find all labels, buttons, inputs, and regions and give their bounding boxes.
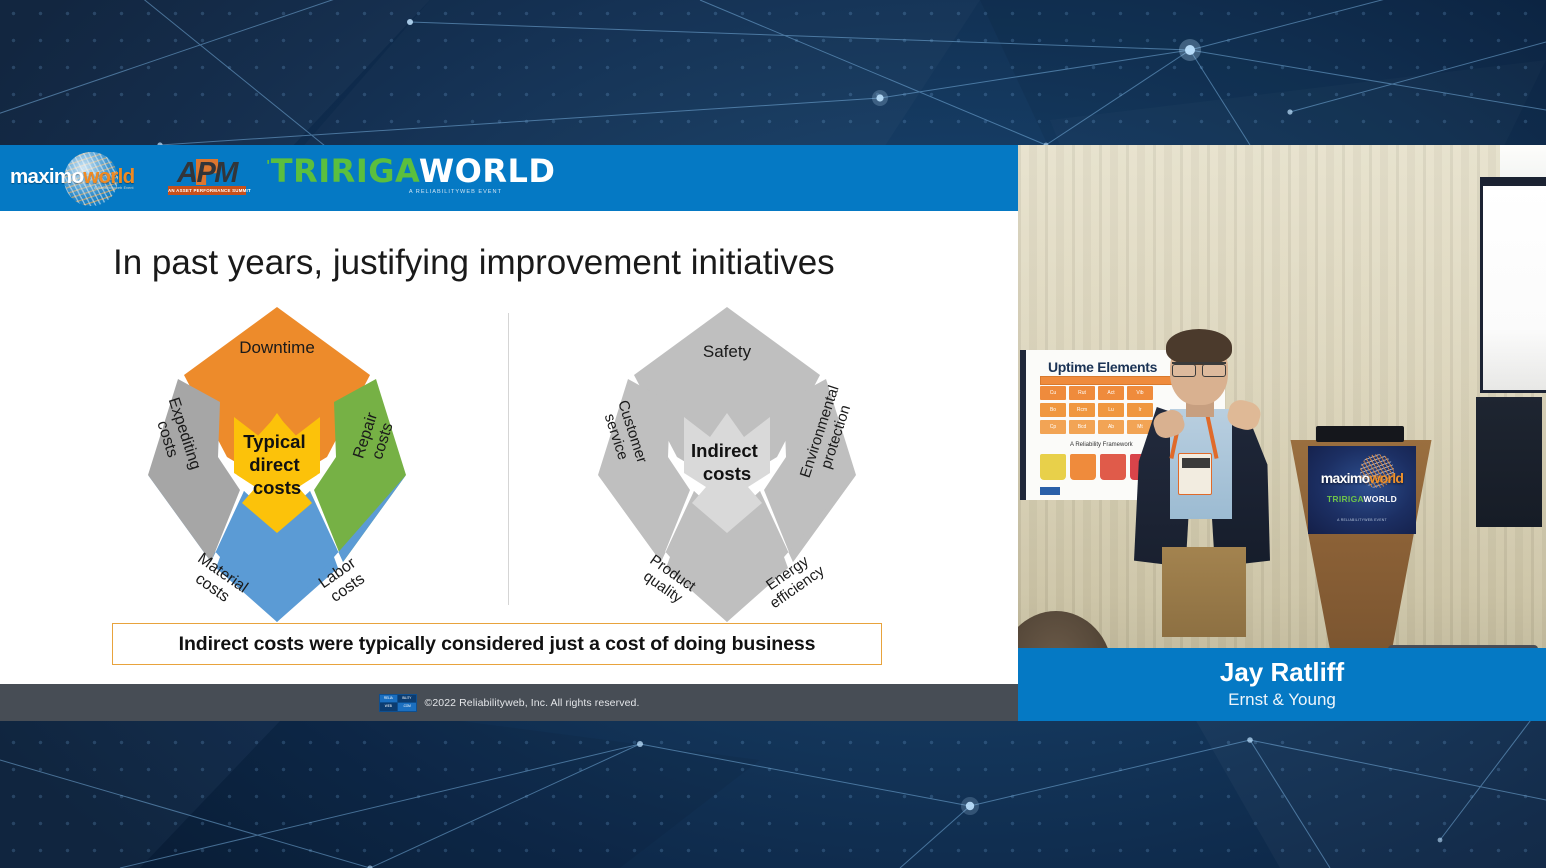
equipment-stand [1476, 397, 1542, 527]
indirect-costs-pentagon-chart: Safety Environmentalprotection Energyeff… [562, 305, 892, 625]
trousers [1162, 547, 1246, 637]
rw-logo-cell-3: WEB [380, 703, 398, 711]
slide-footer-bar: RELIA BILITY WEB .COM ©2022 Reliabilityw… [0, 684, 1018, 721]
speaker-figure [1118, 335, 1288, 635]
apm-logo: APM AN ASSET PERFORMANCE SUMMIT [166, 155, 248, 201]
maximoworld-logo: maximoworld A Reliabilityweb Event [10, 150, 144, 206]
pentagon-label-downtime: Downtime [239, 338, 315, 357]
podium: maximoworld TRIRIGAWORLD A RELIABILITYWE… [1286, 440, 1436, 655]
maximoworld-wordmark: maximoworld [10, 167, 144, 188]
speaker-name: Jay Ratliff [1220, 658, 1344, 687]
name-badge [1178, 453, 1212, 495]
apm-tagline: AN ASSET PERFORMANCE SUMMIT [168, 186, 246, 195]
speaker-organization: Ernst & Young [1228, 689, 1336, 711]
podium-branding-panel: maximoworld TRIRIGAWORLD A RELIABILITYWE… [1308, 446, 1416, 534]
poster-bag-icon [1040, 454, 1066, 480]
diagram-area: Downtime Repaircosts Laborcosts Material… [0, 305, 1018, 625]
podium-tagline: A RELIABILITYWEB EVENT [1308, 518, 1416, 522]
poster-footer-mark [1040, 487, 1060, 495]
pentagon-center-label-direct: Typical direct costs [243, 431, 311, 498]
projection-screen [1480, 183, 1546, 393]
podium-tririgaworld: TRIRIGAWORLD [1308, 494, 1416, 504]
microphone-bar [1316, 426, 1404, 442]
tririgaworld-part2: WORLD [419, 152, 556, 190]
podium-brand-part3a: TRIRIGA [1327, 494, 1364, 504]
callout-box: Indirect costs were typically considered… [112, 623, 882, 665]
pentagon-label-safety: Safety [703, 342, 752, 361]
slide-header-bar: maximoworld A Reliabilityweb Event APM A… [0, 145, 1018, 211]
tririgaworld-part1: TRIRIGA [271, 152, 419, 190]
tririgaworld-wordmark: 'TRIRIGAWORLD [266, 155, 555, 189]
copyright-text: ©2022 Reliabilityweb, Inc. All rights re… [425, 697, 640, 709]
poster-bag-icon [1070, 454, 1096, 480]
rw-logo-cell-4: .COM [398, 703, 416, 711]
maximoworld-part2: world [83, 165, 134, 188]
podium-brand-part2: world [1369, 470, 1403, 486]
slide-title: In past years, justifying improvement in… [113, 243, 835, 283]
eyeglasses-icon [1172, 362, 1226, 373]
speaker-video-feed[interactable]: Uptime Elements Cu Rut Act Vib Bo Rcm Lu… [1018, 145, 1546, 721]
callout-text: Indirect costs were typically considered… [179, 633, 816, 656]
hair [1166, 329, 1232, 365]
direct-costs-pentagon-chart: Downtime Repaircosts Laborcosts Material… [112, 305, 442, 625]
tririgaworld-tagline: A RELIABILITYWEB EVENT [409, 189, 502, 195]
poster-cell: Bo [1040, 403, 1066, 417]
rw-logo-cell-2: BILITY [398, 695, 416, 703]
poster-cell: Rcm [1069, 403, 1095, 417]
presentation-slide: maximoworld A Reliabilityweb Event APM A… [0, 145, 1018, 721]
tririgaworld-logo: 'TRIRIGAWORLD A RELIABILITYWEB EVENT [266, 155, 504, 201]
rw-logo-cell-1: RELIA [380, 695, 398, 703]
poster-cell: Bcd [1069, 420, 1095, 434]
poster-cell: Cp [1040, 420, 1066, 434]
podium-brand-part1: maximo [1321, 470, 1370, 486]
maximoworld-tagline: A Reliabilityweb Event [94, 186, 134, 190]
poster-cell: Rut [1069, 386, 1095, 400]
podium-brand-part3b: WORLD [1363, 494, 1397, 504]
poster-cell: Cu [1040, 386, 1066, 400]
screen-root: maximoworld A Reliabilityweb Event APM A… [0, 0, 1546, 868]
speaker-nameplate: Jay Ratliff Ernst & Young [1018, 648, 1546, 721]
reliabilityweb-logo: RELIA BILITY WEB .COM [379, 694, 417, 712]
maximoworld-part1: maximo [10, 165, 83, 188]
podium-maximoworld: maximoworld [1308, 470, 1416, 486]
